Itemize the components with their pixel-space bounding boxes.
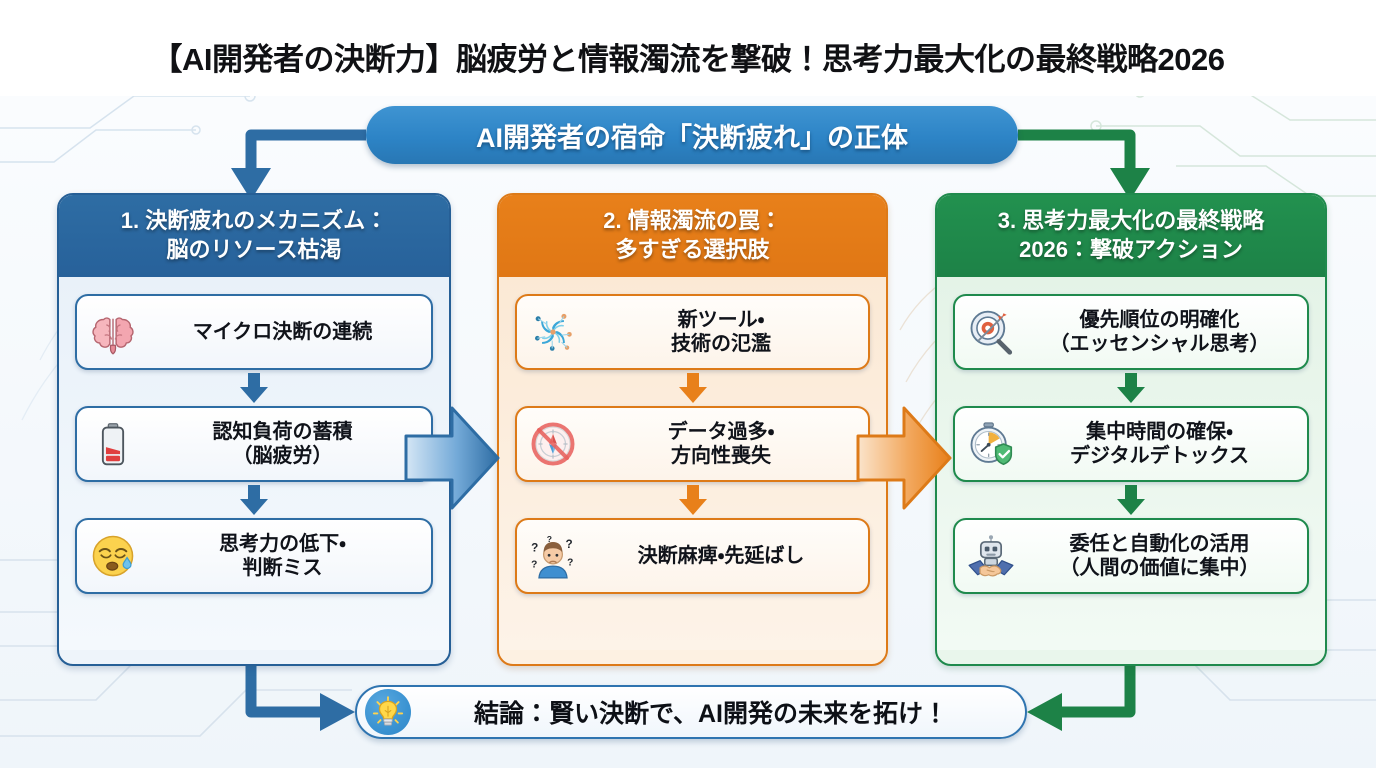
conclusion-bar[interactable]: 結論：賢い決断で、AI開発の未来を拓け！ (355, 685, 1027, 739)
card-focus-time-line1: 集中時間の確保・ (1086, 421, 1233, 443)
column-1-heading-line2: 脳のリソース枯渇 (67, 236, 441, 265)
card-data-overload-label: データ過多・ 方向性喪失 (588, 420, 858, 469)
column-2-heading: 2. 情報濁流の罠： 多すぎる選択肢 (499, 195, 886, 277)
card-decision-paralysis[interactable]: ? ? ? ? ? 決断麻痺・先延ばし (515, 518, 870, 594)
card-focus-time-label: 集中時間の確保・ デジタルデトックス (1026, 420, 1297, 469)
card-data-overload-line2: 方向性喪失 (671, 445, 771, 467)
card-thinking-decline[interactable]: 思考力の低下・ 判断ミス (75, 518, 433, 594)
lightbulb-icon (365, 689, 411, 735)
svg-text:?: ? (531, 542, 538, 555)
card-prioritization-label: 優先順位の明確化 （エッセンシャル思考） (1026, 308, 1297, 357)
column-3-heading: 3. 思考力最大化の最終戦略 2026：撃破アクション (937, 195, 1325, 277)
banner-text: AI開発者の宿命「決断疲れ」の正体 (476, 116, 908, 155)
flow-arrow-col3-1 (953, 370, 1309, 406)
card-micro-decisions[interactable]: マイクロ決断の連続 (75, 294, 433, 370)
column-3-heading-line1: 3. 思考力最大化の最終戦略 (945, 207, 1317, 236)
column-1-heading: 1. 決断疲れのメカニズム： 脳のリソース枯渇 (59, 195, 449, 277)
column-2[interactable]: 2. 情報濁流の罠： 多すぎる選択肢 (497, 193, 888, 666)
card-delegation-line1: 委任と自動化の活用 (1070, 533, 1250, 555)
card-focus-time[interactable]: 集中時間の確保・ デジタルデトックス (953, 406, 1309, 482)
column-1-heading-line1: 1. 決断疲れのメカニズム： (67, 207, 441, 236)
battery-low-icon (87, 418, 139, 470)
tired-face-icon (87, 530, 139, 582)
svg-text:?: ? (566, 538, 573, 551)
conclusion-text: 結論：賢い決断で、AI開発の未来を拓け！ (411, 694, 1025, 730)
column-1-body: マイクロ決断の連続 認知負荷の蓄積 （脳疲労） (59, 277, 449, 650)
card-focus-time-line2: デジタルデトックス (1070, 445, 1249, 467)
connector-banner-to-col1 (231, 135, 366, 200)
card-delegation-line2: （人間の価値に集中） (1060, 557, 1260, 579)
column-2-heading-line2: 多すぎる選択肢 (507, 236, 878, 265)
arrow-col1-to-col2 (404, 402, 500, 514)
banner-pill: AI開発者の宿命「決断疲れ」の正体 (366, 106, 1018, 164)
card-prioritization[interactable]: 優先順位の明確化 （エッセンシャル思考） (953, 294, 1309, 370)
card-delegation-automation[interactable]: 委任と自動化の活用 （人間の価値に集中） (953, 518, 1309, 594)
brain-icon (87, 306, 139, 358)
card-delegation-automation-label: 委任と自動化の活用 （人間の価値に集中） (1026, 532, 1297, 581)
column-3-heading-line2: 2026：撃破アクション (945, 236, 1317, 265)
column-1[interactable]: 1. 決断疲れのメカニズム： 脳のリソース枯渇 マイクロ決断の連続 (57, 193, 451, 666)
card-cognitive-load-line2: （脳疲労） (233, 445, 333, 467)
card-cognitive-load[interactable]: 認知負荷の蓄積 （脳疲労） (75, 406, 433, 482)
confused-person-icon: ? ? ? ? ? (527, 530, 579, 582)
column-2-body: 新ツール・ 技術の氾濫 (499, 277, 886, 650)
column-2-heading-line1: 2. 情報濁流の罠： (507, 207, 878, 236)
connector-col3-to-conclusion (1027, 662, 1130, 731)
flow-arrow-col3-2 (953, 482, 1309, 518)
card-cognitive-load-line1: 認知負荷の蓄積 (213, 421, 353, 443)
card-data-overload[interactable]: データ過多・ 方向性喪失 (515, 406, 870, 482)
svg-text:?: ? (547, 534, 552, 544)
card-cognitive-load-label: 認知負荷の蓄積 （脳疲労） (148, 420, 421, 469)
svg-text:?: ? (531, 560, 537, 571)
card-micro-decisions-label: マイクロ決断の連続 (148, 320, 421, 344)
connector-banner-to-col3 (1018, 135, 1150, 200)
card-thinking-decline-line2: 判断ミス (243, 557, 323, 579)
flow-arrow-col1-1 (75, 370, 433, 406)
no-compass-icon (527, 418, 579, 470)
card-tool-flood-label: 新ツール・ 技術の氾濫 (588, 308, 858, 357)
arrow-col2-to-col3 (856, 402, 952, 514)
flow-arrow-col2-1 (515, 370, 870, 406)
stopwatch-shield-icon (965, 418, 1017, 470)
target-magnifier-icon (965, 306, 1017, 358)
flow-arrow-col2-2 (515, 482, 870, 518)
robot-handshake-icon (965, 530, 1017, 582)
card-decision-paralysis-label: 決断麻痺・先延ばし (588, 544, 858, 568)
data-vortex-icon (527, 306, 579, 358)
card-prioritization-line2: （エッセンシャル思考） (1050, 333, 1270, 355)
column-3-body: 優先順位の明確化 （エッセンシャル思考） (937, 277, 1325, 650)
svg-text:?: ? (567, 558, 573, 569)
card-tool-flood-line1: 新ツール・ (678, 309, 765, 331)
column-3[interactable]: 3. 思考力最大化の最終戦略 2026：撃破アクション (935, 193, 1327, 666)
card-tool-flood-line2: 技術の氾濫 (671, 333, 771, 355)
card-thinking-decline-label: 思考力の低下・ 判断ミス (148, 532, 421, 581)
flow-arrow-col1-2 (75, 482, 433, 518)
card-tool-flood[interactable]: 新ツール・ 技術の氾濫 (515, 294, 870, 370)
infographic-canvas: 【AI開発者の決断力】脳疲労と情報濁流を撃破！思考力最大化の最終戦略2026 A… (0, 0, 1376, 768)
card-thinking-decline-line1: 思考力の低下・ (219, 533, 346, 555)
card-data-overload-line1: データ過多・ (668, 421, 775, 443)
card-prioritization-line1: 優先順位の明確化 (1080, 309, 1240, 331)
connector-col1-to-conclusion (251, 662, 355, 731)
